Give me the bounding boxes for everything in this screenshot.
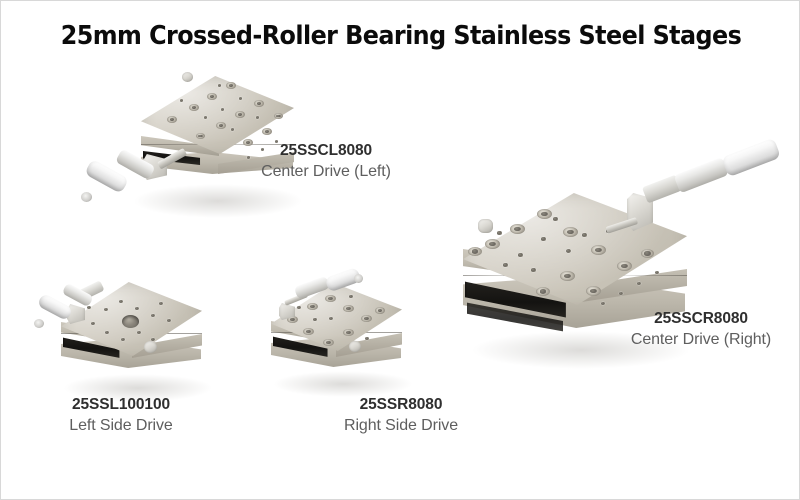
micrometer-barrel bbox=[674, 157, 729, 193]
product-image-25ssr8080 bbox=[251, 279, 446, 397]
center-dowel-hole bbox=[566, 249, 571, 253]
mounting-hole bbox=[121, 338, 125, 341]
mounting-hole bbox=[159, 302, 163, 305]
micrometer-thimble bbox=[37, 293, 74, 321]
dowel-hole bbox=[180, 99, 183, 102]
micrometer-end-cap bbox=[354, 274, 363, 283]
mounting-hole bbox=[137, 331, 141, 334]
micrometer-thimble bbox=[721, 138, 781, 178]
mounting-hole bbox=[307, 303, 318, 310]
dowel-hole bbox=[204, 116, 207, 119]
mounting-hole bbox=[135, 307, 139, 310]
mounting-hole bbox=[485, 239, 500, 249]
mounting-hole bbox=[361, 315, 372, 322]
page-title: 25mm Crossed-Roller Bearing Stainless St… bbox=[27, 21, 775, 51]
dowel-hole bbox=[541, 237, 546, 241]
mounting-hole bbox=[343, 305, 354, 312]
mounting-hole bbox=[91, 322, 95, 325]
mounting-hole bbox=[196, 133, 205, 139]
mounting-hole bbox=[303, 328, 314, 335]
mounting-hole bbox=[563, 227, 578, 237]
dowel-hole bbox=[329, 317, 333, 320]
mounting-hole bbox=[510, 224, 525, 234]
mounting-hole bbox=[226, 82, 236, 89]
dowel-hole bbox=[313, 318, 317, 321]
mounting-hole bbox=[343, 329, 354, 336]
product-catalog-image: 25mm Crossed-Roller Bearing Stainless St… bbox=[0, 0, 800, 500]
micrometer-end-cap bbox=[81, 192, 92, 202]
caption-25ssl100100: 25SSL100100 Left Side Drive bbox=[26, 395, 216, 436]
mounting-hole bbox=[105, 331, 109, 334]
dowel-hole bbox=[349, 295, 353, 298]
mounting-hole bbox=[235, 111, 245, 118]
product-description: Left Side Drive bbox=[26, 415, 216, 436]
dowel-hole bbox=[503, 263, 508, 267]
drop-shadow bbox=[133, 184, 303, 218]
dowel-hole bbox=[553, 217, 558, 221]
lock-knob bbox=[182, 72, 193, 82]
mounting-hole bbox=[560, 271, 575, 281]
caption-25ssr8080: 25SSR8080 Right Side Drive bbox=[301, 395, 501, 436]
dowel-hole bbox=[256, 116, 259, 119]
mounting-hole bbox=[151, 314, 155, 317]
mounting-hole bbox=[207, 93, 217, 100]
dowel-hole bbox=[497, 231, 502, 235]
dowel-hole bbox=[231, 128, 234, 131]
mounting-hole bbox=[536, 287, 550, 296]
dowel-hole bbox=[221, 108, 224, 111]
product-description: Center Drive (Left) bbox=[201, 161, 451, 182]
mounting-hole bbox=[323, 339, 334, 346]
mounting-hole bbox=[254, 100, 264, 107]
product-image-25sscl8080 bbox=[71, 56, 311, 221]
product-sku: 25SSR8080 bbox=[301, 395, 501, 415]
mounting-hole bbox=[537, 209, 552, 219]
product-description: Center Drive (Right) bbox=[601, 329, 800, 350]
mounting-hole bbox=[119, 300, 123, 303]
dowel-hole bbox=[518, 253, 523, 257]
product-image-25ssl100100 bbox=[31, 286, 246, 401]
dowel-hole bbox=[297, 306, 301, 309]
lock-knob bbox=[478, 219, 493, 233]
edge-screw-hole bbox=[601, 302, 605, 305]
edge-screw-hole bbox=[365, 337, 369, 340]
edge-screw-hole bbox=[637, 282, 641, 285]
mounting-hole bbox=[375, 307, 385, 314]
adjust-knob bbox=[144, 341, 157, 353]
dowel-hole bbox=[218, 84, 221, 87]
edge-screw-hole bbox=[655, 271, 659, 274]
dowel-hole bbox=[582, 233, 587, 237]
mounting-hole bbox=[325, 295, 336, 302]
mounting-hole bbox=[274, 113, 283, 119]
mounting-hole bbox=[216, 122, 226, 129]
mounting-hole bbox=[641, 249, 654, 258]
mounting-hole bbox=[468, 247, 482, 256]
mounting-hole bbox=[189, 104, 199, 111]
center-through-hole bbox=[122, 315, 139, 328]
mounting-hole bbox=[591, 245, 606, 255]
product-description: Right Side Drive bbox=[301, 415, 501, 436]
drop-shadow bbox=[273, 371, 413, 397]
edge-screw-hole bbox=[619, 292, 623, 295]
product-sku: 25SSL100100 bbox=[26, 395, 216, 415]
mounting-hole bbox=[617, 261, 632, 271]
caption-25sscl8080: 25SSCL8080 Center Drive (Left) bbox=[201, 141, 451, 182]
adjust-knob bbox=[349, 341, 361, 352]
micrometer-end-cap bbox=[34, 319, 44, 328]
mounting-hole bbox=[262, 128, 272, 135]
mounting-hole bbox=[167, 116, 177, 123]
product-sku: 25SSCR8080 bbox=[601, 309, 800, 329]
dowel-hole bbox=[239, 97, 242, 100]
mounting-hole bbox=[167, 319, 171, 322]
caption-25sscr8080: 25SSCR8080 Center Drive (Right) bbox=[601, 309, 800, 350]
mounting-hole bbox=[586, 286, 601, 296]
dowel-hole bbox=[531, 268, 536, 272]
product-sku: 25SSCL8080 bbox=[201, 141, 451, 161]
mounting-hole bbox=[104, 308, 108, 311]
mounting-hole bbox=[87, 306, 91, 309]
